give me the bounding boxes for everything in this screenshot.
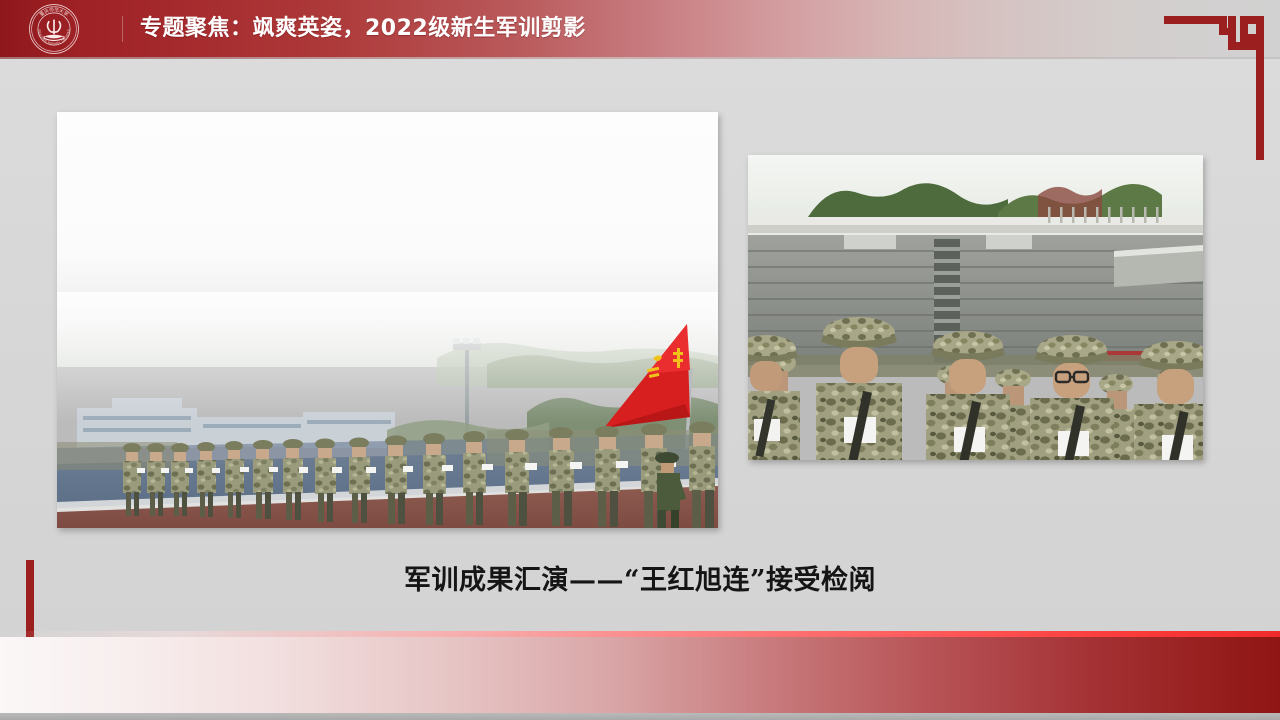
slide-canvas: 重庆师范大学 CHONGQING NORMAL UNIVERSITY 专题聚焦：… xyxy=(0,0,1280,720)
svg-text:重庆师范大学: 重庆师范大学 xyxy=(38,6,70,18)
header-underline xyxy=(0,57,1280,59)
university-seal-logo: 重庆师范大学 CHONGQING NORMAL UNIVERSITY xyxy=(28,3,80,55)
photo-students-closeup xyxy=(748,155,1203,460)
photo-caption: 军训成果汇演——“王红旭连”接受检阅 xyxy=(0,558,1280,597)
bottom-edge-strip xyxy=(0,713,1280,720)
decorative-corner-top-right xyxy=(1162,8,1270,168)
page-title: 专题聚焦：飒爽英姿，2022级新生军训剪影 xyxy=(140,0,586,57)
bottom-gradient-bar xyxy=(0,637,1280,713)
header-divider xyxy=(122,16,123,42)
photo-parade-formation xyxy=(57,112,718,528)
